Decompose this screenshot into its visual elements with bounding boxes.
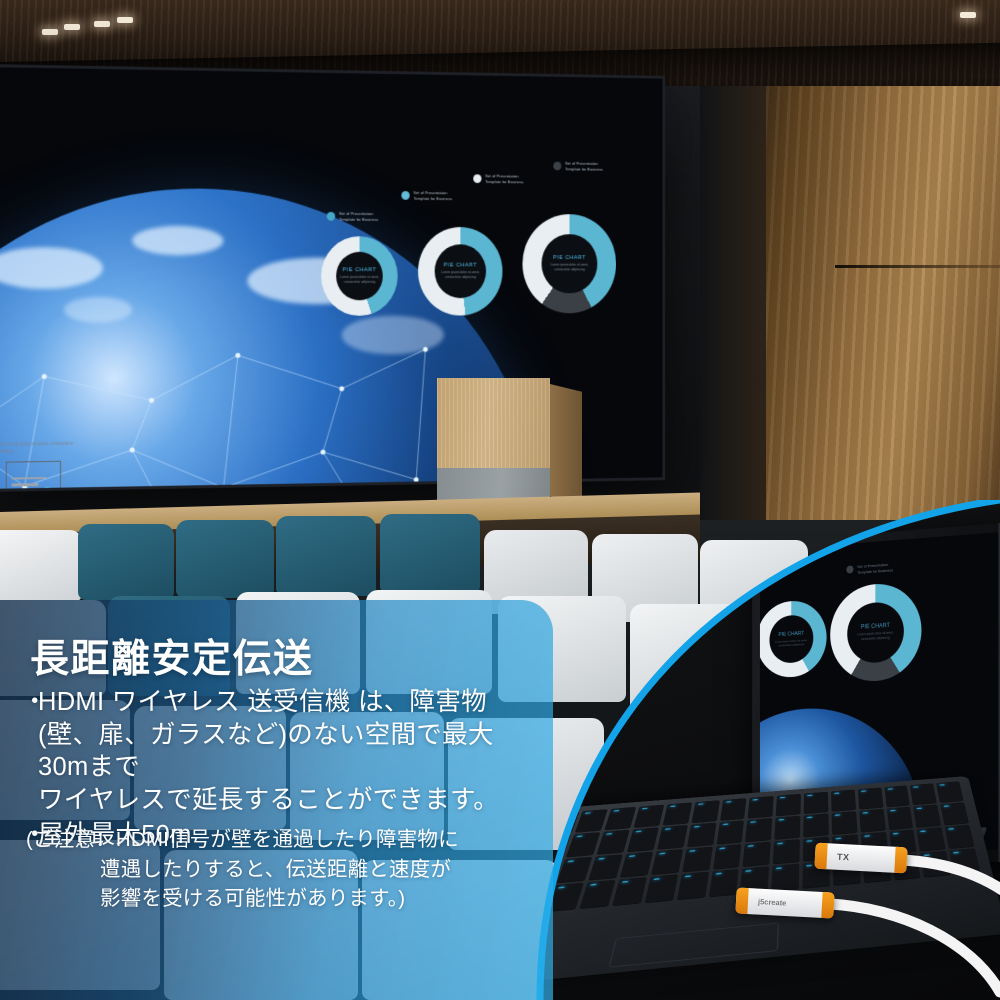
adapter-orange-band [735, 887, 748, 914]
chair-teal [78, 524, 174, 600]
card-top-lorem: Lorem ipsum dolor sit amet, consectetur … [0, 441, 87, 456]
bullet-text: ワイヤレスで延長することができます。 [38, 784, 499, 817]
podium-wood-body [437, 378, 550, 470]
ceiling-spotlight [117, 17, 133, 23]
legend-label: Set of PresentationTemplate for Business [413, 190, 452, 202]
bullet-text: (壁、扉、ガラスなど)のない空間で最大30mまで [38, 719, 534, 784]
legend-label: Set of PresentationTemplate for Business [565, 161, 603, 173]
feature-text-panel: 長距離安定伝送 ・ HDMI ワイヤレス 送受信機 は、障害物 (壁、扉、ガラス… [0, 600, 553, 1000]
legend-swatch-icon [473, 174, 481, 183]
donut-center-label: PIE CHART Lorem ipsum dolor sit amet,con… [542, 234, 598, 293]
slide-subtitle: tes for Business tration [0, 263, 198, 300]
bullet-item: ・ HDMI ワイヤレス 送受信機 は、障害物 [22, 686, 534, 719]
donut-chart-1: PIE CHART Lorem ipsum dolor sit amet,con… [321, 236, 398, 316]
slide-title-primary: ATION [0, 174, 198, 215]
bullet-marker: ・ [22, 686, 38, 719]
legend-swatch-icon [327, 212, 335, 221]
donut-chart-2: PIE CHART Lorem ipsum dolor sit amet,con… [418, 227, 502, 316]
adapter-orange-band [821, 892, 834, 919]
chair-white [0, 530, 82, 602]
ceiling-spotlight [42, 29, 58, 35]
slide-title-secondary: TES [0, 214, 198, 255]
donut-center-label: PIE CHART Lorem ipsum dolor sit amet,con… [336, 252, 383, 301]
adapter-tx-label: TX [837, 852, 850, 863]
bullet-item-cont: ワイヤレスで延長することができます。 [22, 784, 534, 817]
legend-label: Set of PresentationTemplate for Business [485, 173, 524, 185]
chart-legend-item: Set of PresentationTemplate for Business [473, 173, 523, 185]
chart-legend-item: Set of PresentationTemplate for Business [553, 161, 603, 173]
card-accent-dot [40, 487, 54, 489]
adapter-brand-label: j5create [758, 897, 787, 907]
slide-title-block: ATION TES tes for Business tration [0, 174, 198, 300]
slide-clean-version-card: Lorem ipsum dolor sit amet, consectetur … [0, 441, 87, 489]
ceiling-spotlight [94, 21, 110, 27]
hdmi-transmitter-adapter: TX [814, 843, 907, 874]
adapter-orange-band [894, 847, 907, 874]
ceiling-spotlight [64, 24, 80, 30]
caution-note: (ご注意：HDMI信号が壁を通過したり障害物に 遭遇したりすると、伝送距離と速度… [26, 825, 526, 914]
chair-teal [176, 520, 274, 598]
pie-chart-group: Set of PresentationTemplate for Business… [312, 156, 641, 302]
legend-swatch-icon [553, 162, 561, 171]
cable-lower [830, 904, 1000, 992]
chair-teal [276, 516, 376, 596]
wood-panel-seam [835, 265, 1000, 268]
adapter-orange-band [814, 843, 827, 870]
bullet-item-cont: (壁、扉、ガラスなど)のない空間で最大30mまで [22, 719, 534, 784]
panel-heading: 長距離安定伝送 [30, 628, 314, 684]
donut-chart-3: PIE CHART Lorem ipsum dolor sit amet,con… [522, 214, 616, 313]
note-line: 遭遇したりすると、伝送距離と速度が [26, 855, 526, 885]
wood-wall-panel [760, 0, 1000, 575]
podium-side-face [550, 384, 582, 514]
product-marketing-image: ATION TES tes for Business tration Lorem… [0, 0, 1000, 1000]
cable-upper [900, 860, 1000, 904]
hdmi-receiver-adapter: j5create [735, 887, 834, 918]
donut-center-label: PIE CHART Lorem ipsum dolor sit amet,con… [435, 244, 486, 298]
chair-teal [380, 514, 480, 594]
card-thumbnail-icon [6, 461, 61, 489]
chart-legend-item: Set of PresentationTemplate for Business [401, 190, 452, 202]
legend-label: Set of PresentationTemplate for Business [339, 211, 378, 223]
note-line: (ご注意：HDMI信号が壁を通過したり障害物に [26, 825, 526, 855]
chart-legend-item: Set of PresentationTemplate for Business [327, 211, 379, 223]
bullet-text: HDMI ワイヤレス 送受信機 は、障害物 [38, 686, 487, 719]
legend-swatch-icon [401, 191, 409, 200]
note-line: 影響を受ける可能性があります。) [26, 884, 526, 914]
ceiling-spotlight [960, 12, 976, 18]
